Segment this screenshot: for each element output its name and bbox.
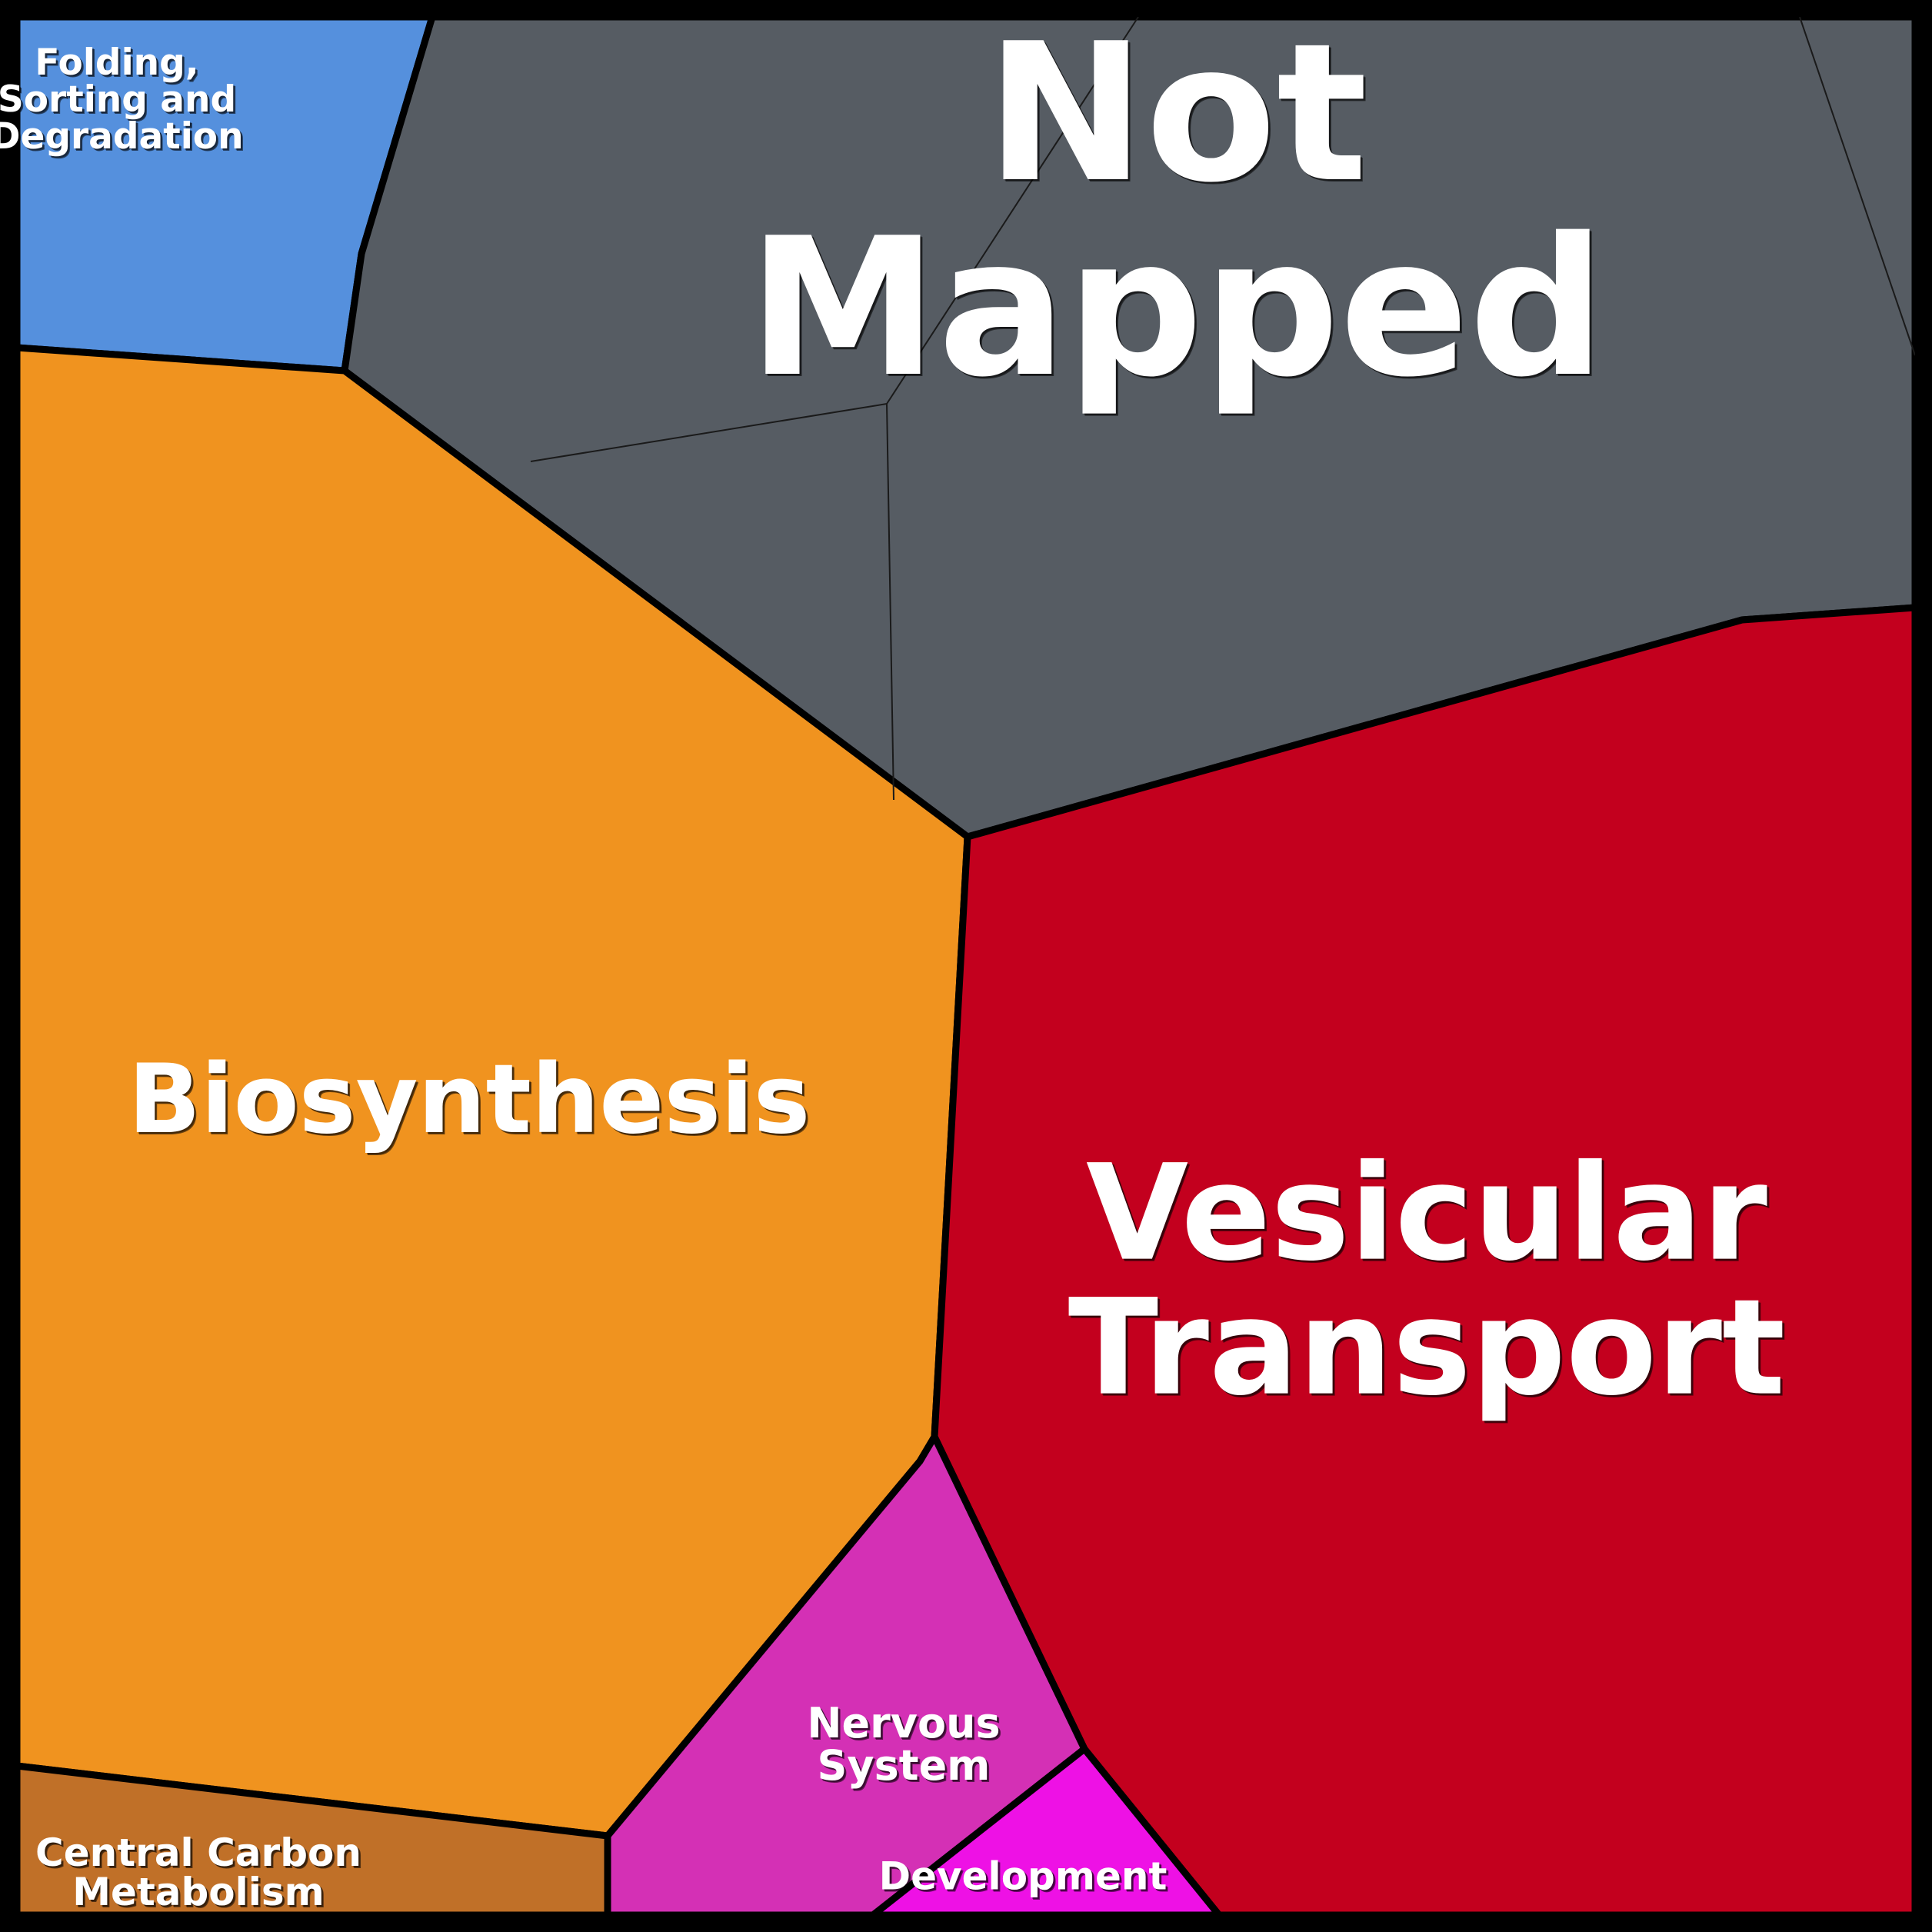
voronoi-treemap-figure: Folding, Sorting and DegradationNot Mapp… — [0, 0, 1932, 1932]
voronoi-cells-layer — [17, 17, 1915, 1915]
voronoi-svg-canvas — [0, 0, 1932, 1932]
treemap-cell-vesicular-transport[interactable] — [934, 608, 1915, 1915]
